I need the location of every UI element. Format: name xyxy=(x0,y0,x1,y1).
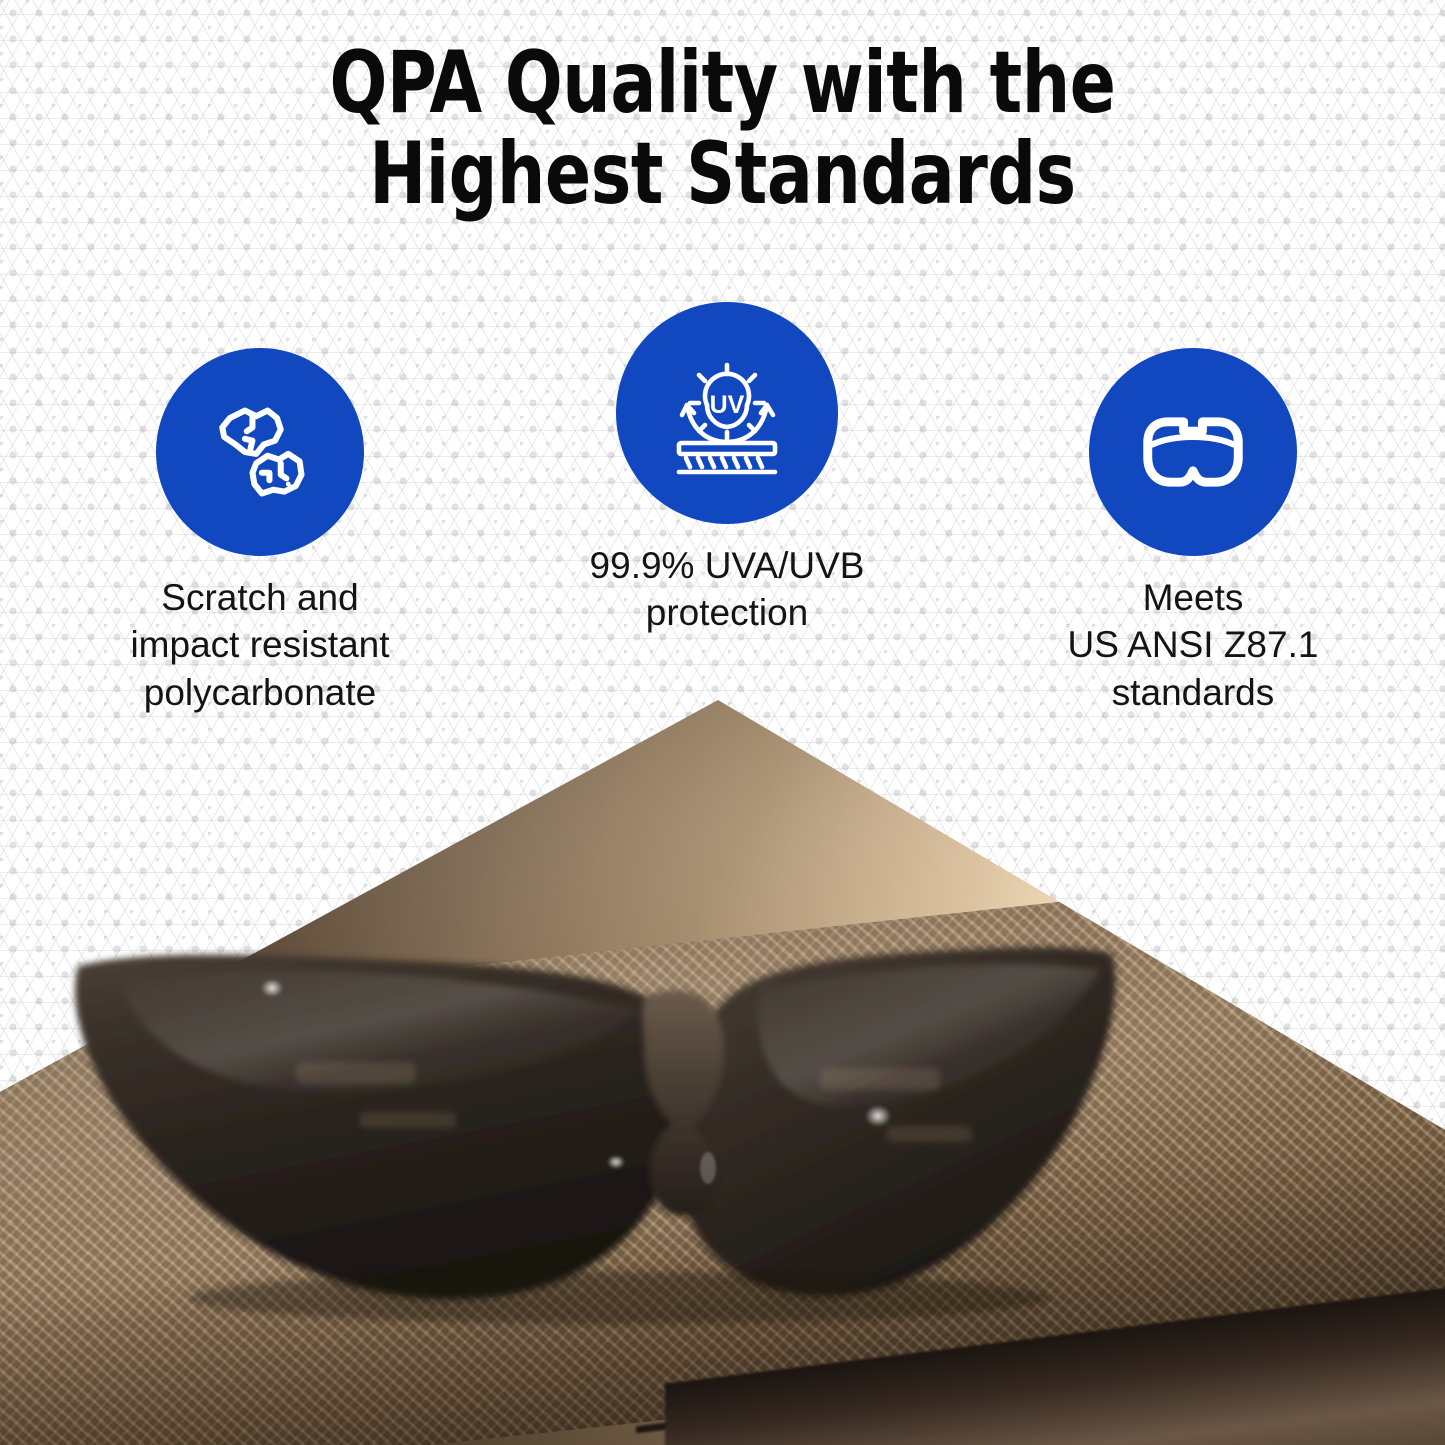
page-title: QPA Quality with the Highest Standards xyxy=(87,38,1359,220)
caption-line-2: protection xyxy=(517,589,937,636)
feature-icon-circle xyxy=(156,348,364,556)
feature-caption: Scratch and impact resistant polycarbona… xyxy=(50,574,470,716)
feature-icon-circle: UV xyxy=(616,302,838,524)
caption-line-1: Scratch and xyxy=(50,574,470,621)
feature-icon-circle xyxy=(1089,348,1297,556)
caption-line-1: 99.9% UVA/UVB xyxy=(517,542,937,589)
caption-line-3: standards xyxy=(983,669,1403,716)
uv-label: UV xyxy=(710,391,745,419)
feature-scratch-impact: Scratch and impact resistant polycarbona… xyxy=(50,348,470,716)
safety-goggles-icon xyxy=(1127,386,1259,518)
feature-ansi-standards: Meets US ANSI Z87.1 standards xyxy=(983,348,1403,716)
feature-caption: 99.9% UVA/UVB protection xyxy=(517,542,937,637)
caption-line-2: US ANSI Z87.1 xyxy=(983,621,1403,668)
uv-sun-shield-icon: UV xyxy=(657,343,797,483)
headline-line-2: Highest Standards xyxy=(87,129,1359,220)
feature-row: Scratch and impact resistant polycarbona… xyxy=(0,300,1445,770)
feature-caption: Meets US ANSI Z87.1 standards xyxy=(983,574,1403,716)
caption-line-2: impact resistant xyxy=(50,621,470,668)
caption-line-3: polycarbonate xyxy=(50,669,470,716)
feature-uv-protection: UV xyxy=(517,302,937,637)
caption-line-1: Meets xyxy=(983,574,1403,621)
headline-line-1: QPA Quality with the xyxy=(87,38,1359,129)
product-feature-card: QPA Quality with the Highest Standards xyxy=(0,0,1445,1445)
rocks-stones-icon xyxy=(194,386,326,518)
